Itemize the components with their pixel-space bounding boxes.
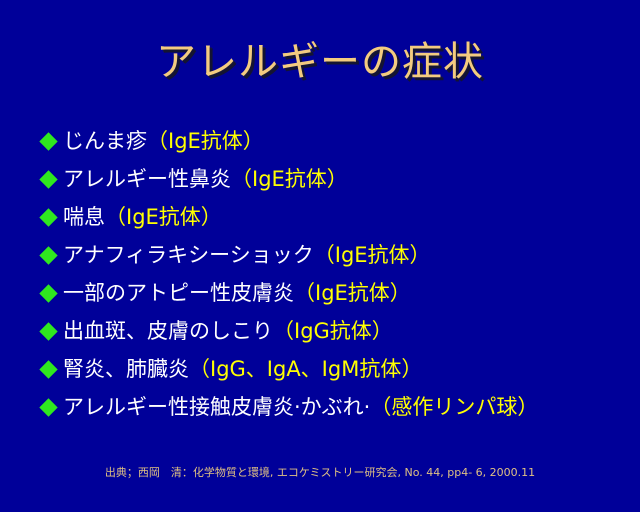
list-item: アレルギー性鼻炎 （IgE抗体） bbox=[40, 160, 640, 198]
list-item-label: 出血斑、皮膚のしこり bbox=[63, 318, 273, 344]
list-item-antibody-tag: （IgE抗体） bbox=[314, 242, 431, 268]
list-item: 喘息 （IgE抗体） bbox=[40, 198, 640, 236]
list-item-antibody-tag: （IgG、IgA、IgM抗体） bbox=[189, 356, 422, 382]
symptom-bullet-list: じんま疹 （IgE抗体） アレルギー性鼻炎 （IgE抗体） 喘息 （IgE抗体）… bbox=[40, 122, 640, 426]
list-item-label: アレルギー性接触皮膚炎·かぶれ· bbox=[63, 394, 370, 420]
list-item-label: 一部のアトピー性皮膚炎 bbox=[63, 280, 294, 306]
list-item-antibody-tag: （IgG抗体） bbox=[273, 318, 393, 344]
list-item-antibody-tag: （IgE抗体） bbox=[105, 204, 222, 230]
list-item-antibody-tag: （IgE抗体） bbox=[294, 280, 411, 306]
list-item: じんま疹 （IgE抗体） bbox=[40, 122, 640, 160]
diamond-bullet-icon bbox=[39, 170, 57, 188]
diamond-bullet-icon bbox=[39, 398, 57, 416]
list-item-antibody-tag: （感作リンパ球） bbox=[370, 394, 538, 420]
diamond-bullet-icon bbox=[39, 132, 57, 150]
diamond-bullet-icon bbox=[39, 360, 57, 378]
diamond-bullet-icon bbox=[39, 322, 57, 340]
diamond-bullet-icon bbox=[39, 246, 57, 264]
list-item: アナフィラキシーショック （IgE抗体） bbox=[40, 236, 640, 274]
diamond-bullet-icon bbox=[39, 208, 57, 226]
list-item-label: アナフィラキシーショック bbox=[63, 242, 314, 268]
diamond-bullet-icon bbox=[39, 284, 57, 302]
list-item-label: 腎炎、肺臓炎 bbox=[63, 356, 189, 382]
page-title: アレルギーの症状 bbox=[0, 38, 640, 86]
list-item-antibody-tag: （IgE抗体） bbox=[231, 166, 348, 192]
source-citation: 出典；西岡 清：化学物質と環境, エコケミストリー研究会, No. 44, pp… bbox=[0, 465, 640, 480]
list-item: 腎炎、肺臓炎 （IgG、IgA、IgM抗体） bbox=[40, 350, 640, 388]
list-item-label: 喘息 bbox=[63, 204, 105, 230]
list-item-label: アレルギー性鼻炎 bbox=[63, 166, 231, 192]
list-item: 一部のアトピー性皮膚炎 （IgE抗体） bbox=[40, 274, 640, 312]
list-item-antibody-tag: （IgE抗体） bbox=[147, 128, 264, 154]
list-item: 出血斑、皮膚のしこり （IgG抗体） bbox=[40, 312, 640, 350]
presentation-slide: アレルギーの症状 じんま疹 （IgE抗体） アレルギー性鼻炎 （IgE抗体） 喘… bbox=[0, 0, 640, 512]
list-item: アレルギー性接触皮膚炎·かぶれ· （感作リンパ球） bbox=[40, 388, 640, 426]
list-item-label: じんま疹 bbox=[63, 128, 147, 154]
